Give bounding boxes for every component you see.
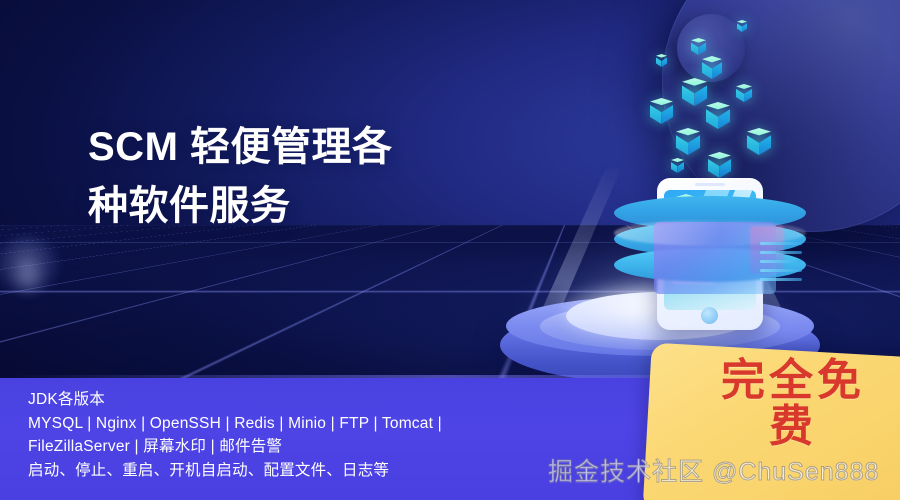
cube-icon [737,20,747,32]
cube-icon [691,38,706,55]
feature-list: JDK各版本 MYSQL | Nginx | OpenSSH | Redis |… [28,388,442,482]
feature-line-tools: FileZillaServer | 屏幕水印 | 邮件告警 [28,435,442,459]
cube-icon [676,128,700,155]
feature-line-actions: 启动、停止、重启、开机自启动、配置文件、日志等 [28,459,442,483]
database-stripes [760,242,802,286]
database-icon [614,196,806,302]
banner-stage: SCM 轻便管理各 种软件服务 JDK各版本 MYSQL | Nginx | O… [0,0,900,500]
headline-line-1: SCM 轻便管理各 [88,118,518,177]
feature-line-services: MYSQL | Nginx | OpenSSH | Redis | Minio … [28,412,442,436]
cube-icon [702,56,722,79]
cube-icon [747,128,771,155]
page-title: SCM 轻便管理各 种软件服务 [88,118,518,236]
cube-icon [682,78,707,106]
headline-line-2: 种软件服务 [88,177,518,236]
cube-icon [671,158,684,173]
cube-icon [708,152,731,178]
cube-icon [706,102,730,129]
cube-icon [650,98,673,124]
free-badge-text: 完全免费 [703,358,883,450]
cube-icon [656,54,667,67]
feature-line-jdk: JDK各版本 [28,388,442,412]
phone-home-button [701,307,718,324]
phone-speaker [695,183,725,186]
cube-icon [736,84,752,102]
